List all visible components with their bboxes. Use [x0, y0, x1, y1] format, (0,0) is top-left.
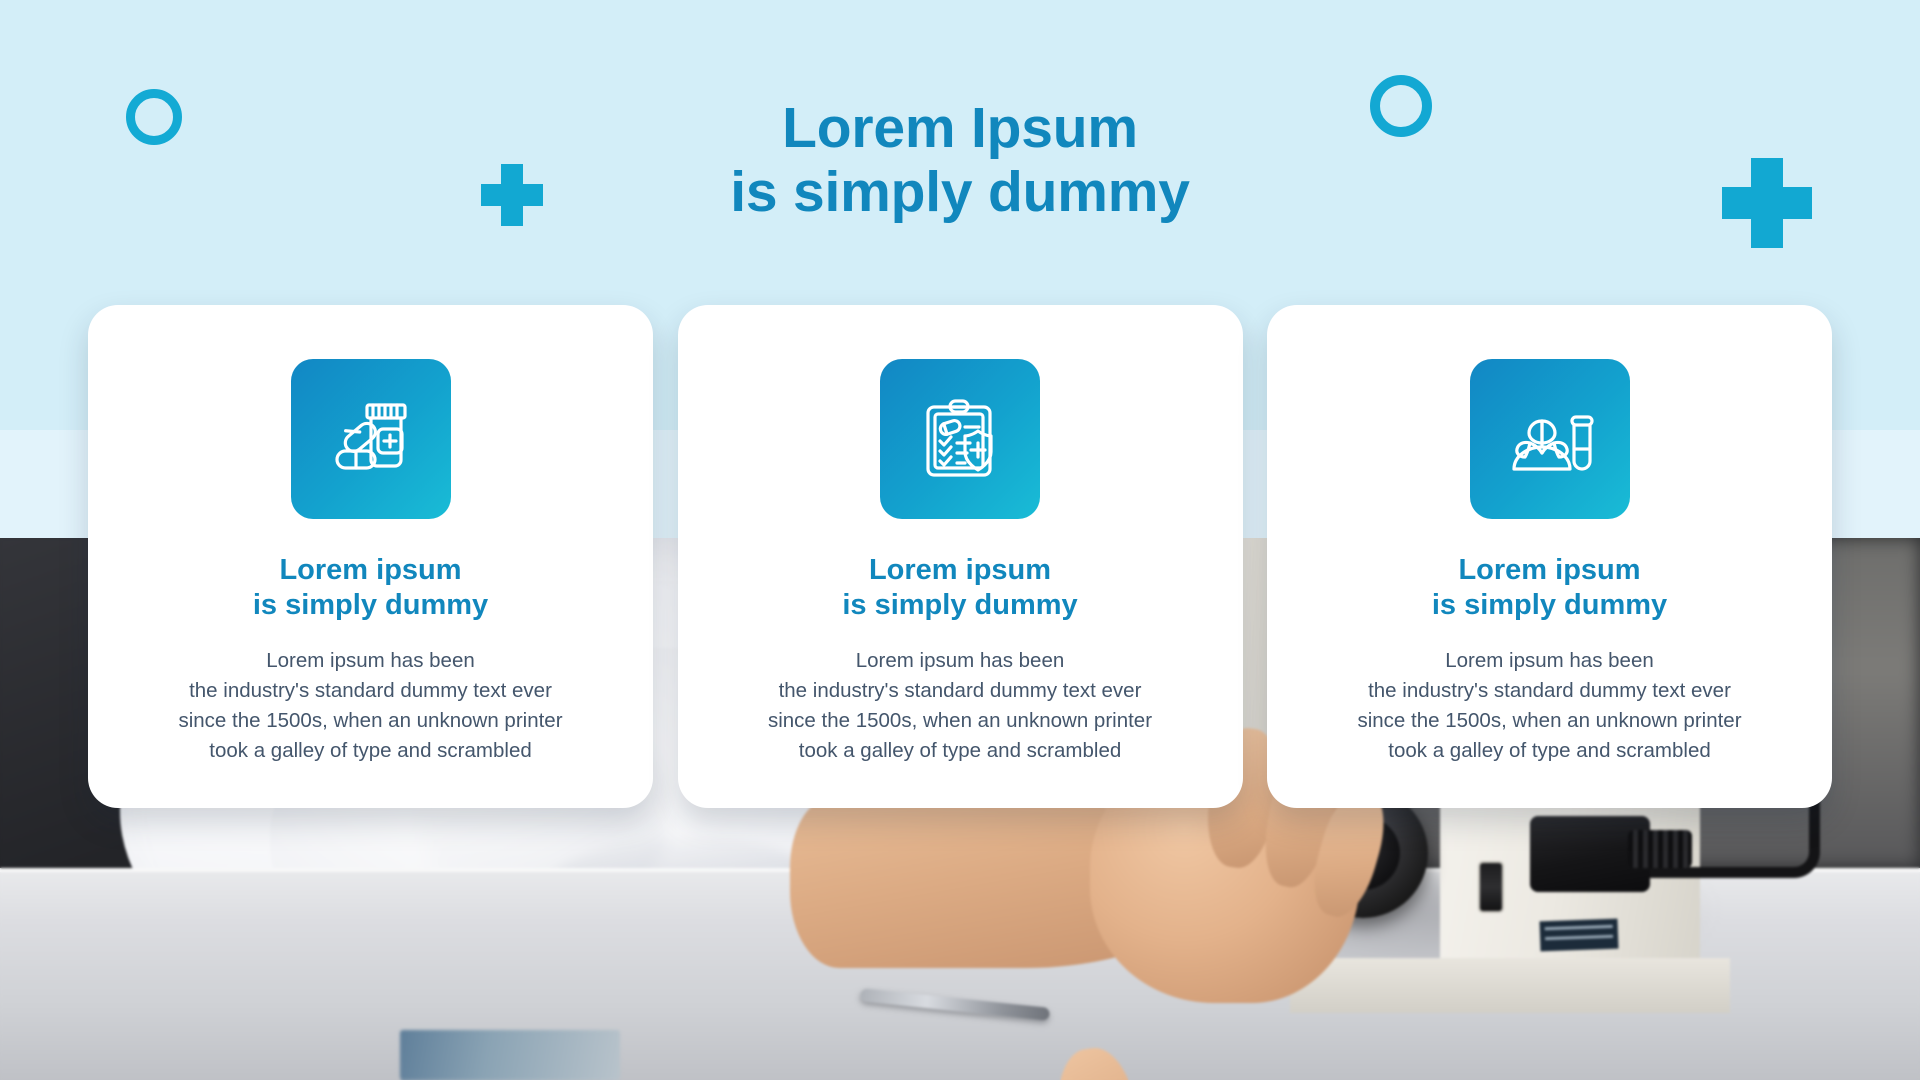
slide-title-line-1: Lorem Ipsum — [0, 96, 1920, 160]
photo-specimen-slides — [400, 1030, 620, 1080]
slide-canvas: CE Lorem Ipsum is simply dummy — [0, 0, 1920, 1080]
card-body-line-3: since the 1500s, when an unknown printer — [1357, 706, 1741, 736]
feature-card[interactable]: Lorem ipsum is simply dummy Lorem ipsum … — [1267, 305, 1832, 808]
card-body-line-4: took a galley of type and scrambled — [768, 736, 1152, 766]
slide-title: Lorem Ipsum is simply dummy — [0, 96, 1920, 225]
card-body-line-3: since the 1500s, when an unknown printer — [768, 706, 1152, 736]
feature-card-body: Lorem ipsum has been the industry's stan… — [744, 646, 1176, 766]
feature-card[interactable]: Lorem ipsum is simply dummy Lorem ipsum … — [678, 305, 1243, 808]
card-title-line-1: Lorem ipsum — [1432, 553, 1667, 588]
card-body-line-2: the industry's standard dummy text ever — [1357, 676, 1741, 706]
plant-test-tube-icon — [1470, 359, 1630, 519]
card-body-line-1: Lorem ipsum has been — [1357, 646, 1741, 676]
feature-card-title: Lorem ipsum is simply dummy — [842, 553, 1077, 624]
card-body-line-2: the industry's standard dummy text ever — [178, 676, 562, 706]
card-body-line-1: Lorem ipsum has been — [178, 646, 562, 676]
card-title-line-2: is simply dummy — [253, 588, 488, 623]
card-title-line-2: is simply dummy — [842, 588, 1077, 623]
feature-card-body: Lorem ipsum has been the industry's stan… — [1333, 646, 1765, 766]
photo-microscope-foot — [1290, 958, 1730, 1013]
photo-plug-strain-relief — [1628, 830, 1692, 868]
card-body-line-4: took a galley of type and scrambled — [178, 736, 562, 766]
photo-microscope-rating-label — [1540, 919, 1619, 952]
card-title-line-2: is simply dummy — [1432, 588, 1667, 623]
feature-card-title: Lorem ipsum is simply dummy — [1432, 553, 1667, 624]
feature-card-body: Lorem ipsum has been the industry's stan… — [154, 646, 586, 766]
card-body-line-1: Lorem ipsum has been — [768, 646, 1152, 676]
card-body-line-2: the industry's standard dummy text ever — [768, 676, 1152, 706]
card-body-line-4: took a galley of type and scrambled — [1357, 736, 1741, 766]
slide-title-line-2: is simply dummy — [0, 160, 1920, 224]
feature-card-row: Lorem ipsum is simply dummy Lorem ipsum … — [88, 305, 1832, 808]
photo-microscope-power-switch — [1480, 863, 1502, 911]
card-title-line-1: Lorem ipsum — [253, 553, 488, 588]
feature-card-title: Lorem ipsum is simply dummy — [253, 553, 488, 624]
card-body-line-3: since the 1500s, when an unknown printer — [178, 706, 562, 736]
feature-card[interactable]: Lorem ipsum is simply dummy Lorem ipsum … — [88, 305, 653, 808]
pill-bottle-icon — [291, 359, 451, 519]
clipboard-shield-icon — [880, 359, 1040, 519]
card-title-line-1: Lorem ipsum — [842, 553, 1077, 588]
